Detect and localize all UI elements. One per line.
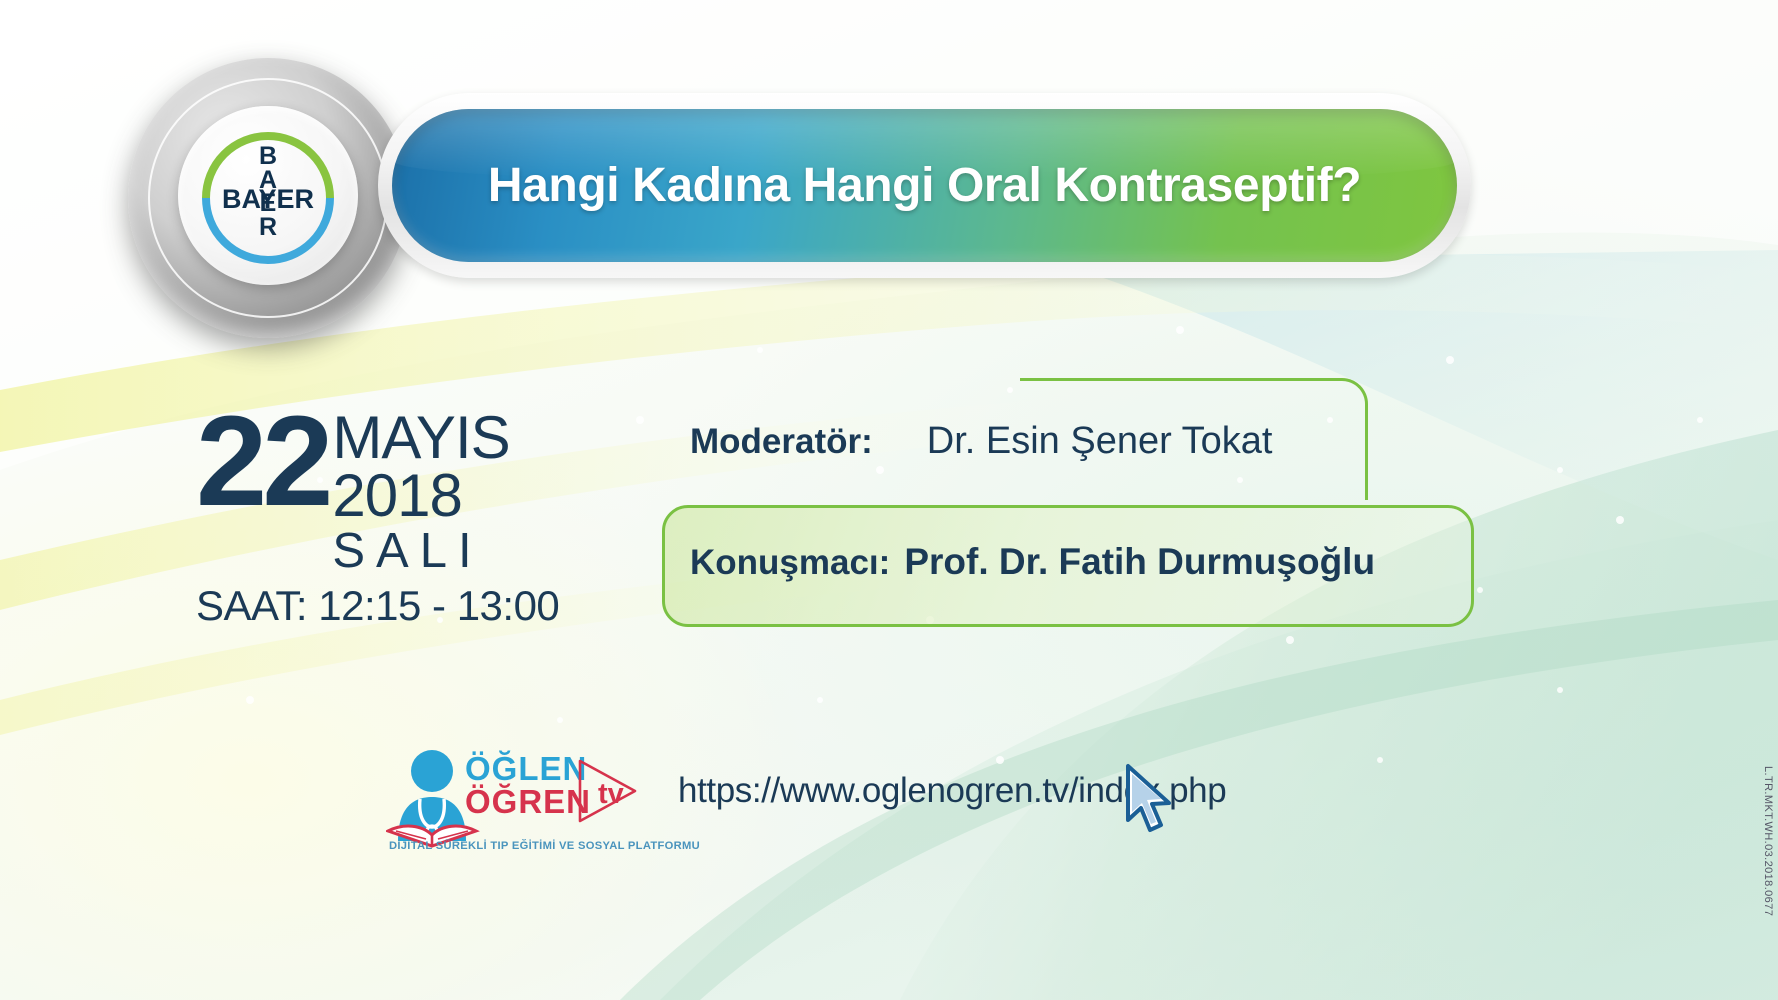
moderator-name: Dr. Esin Şener Tokat <box>927 420 1273 463</box>
date-row: 22 MAYIS 2018 SALI <box>196 400 576 578</box>
poster-canvas: B A E R BAYER Hangi Kadına Hangi Oral Ko… <box>0 0 1778 1000</box>
speaker-label: Konuşmacı: <box>690 543 890 583</box>
page-title: Hangi Kadına Hangi Oral Kontraseptif? <box>488 158 1361 213</box>
event-weekday: SALI <box>332 526 509 577</box>
svg-text:R: R <box>259 213 277 241</box>
title-banner: Hangi Kadına Hangi Oral Kontraseptif? <box>392 109 1457 262</box>
platform-tagline: DİJİTAL SÜREKLİ TIP EĞİTİMİ VE SOSYAL PL… <box>389 840 659 852</box>
mouse-cursor-icon <box>1120 762 1182 840</box>
document-reference-code: L.TR.MKT.WH.03.2018.0677 <box>1762 766 1774 916</box>
bayer-cross-wordmark: B A E R BAYER <box>128 58 408 338</box>
speaker-name: Prof. Dr. Fatih Durmuşoğlu <box>904 541 1375 583</box>
bayer-wordmark-text: BAYER <box>222 184 314 214</box>
event-day: 22 <box>196 412 328 512</box>
title-banner-frame: Hangi Kadına Hangi Oral Kontraseptif? <box>378 93 1471 278</box>
tv-play-badge-icon: tv <box>572 755 642 827</box>
event-month: MAYIS <box>332 410 509 465</box>
date-right-column: MAYIS 2018 SALI <box>332 410 509 578</box>
tv-badge-label: tv <box>598 778 624 810</box>
event-time: SAAT: 12:15 - 13:00 <box>196 582 576 630</box>
speaker-row: Konuşmacı: Prof. Dr. Fatih Durmuşoğlu <box>690 541 1375 583</box>
moderator-row: Moderatör: Dr. Esin Şener Tokat <box>690 420 1272 463</box>
event-date-block: 22 MAYIS 2018 SALI SAAT: 12:15 - 13:00 <box>196 400 576 630</box>
bayer-logo: B A E R BAYER <box>128 58 408 338</box>
event-year: 2018 <box>332 465 509 526</box>
moderator-label: Moderatör: <box>690 422 873 462</box>
